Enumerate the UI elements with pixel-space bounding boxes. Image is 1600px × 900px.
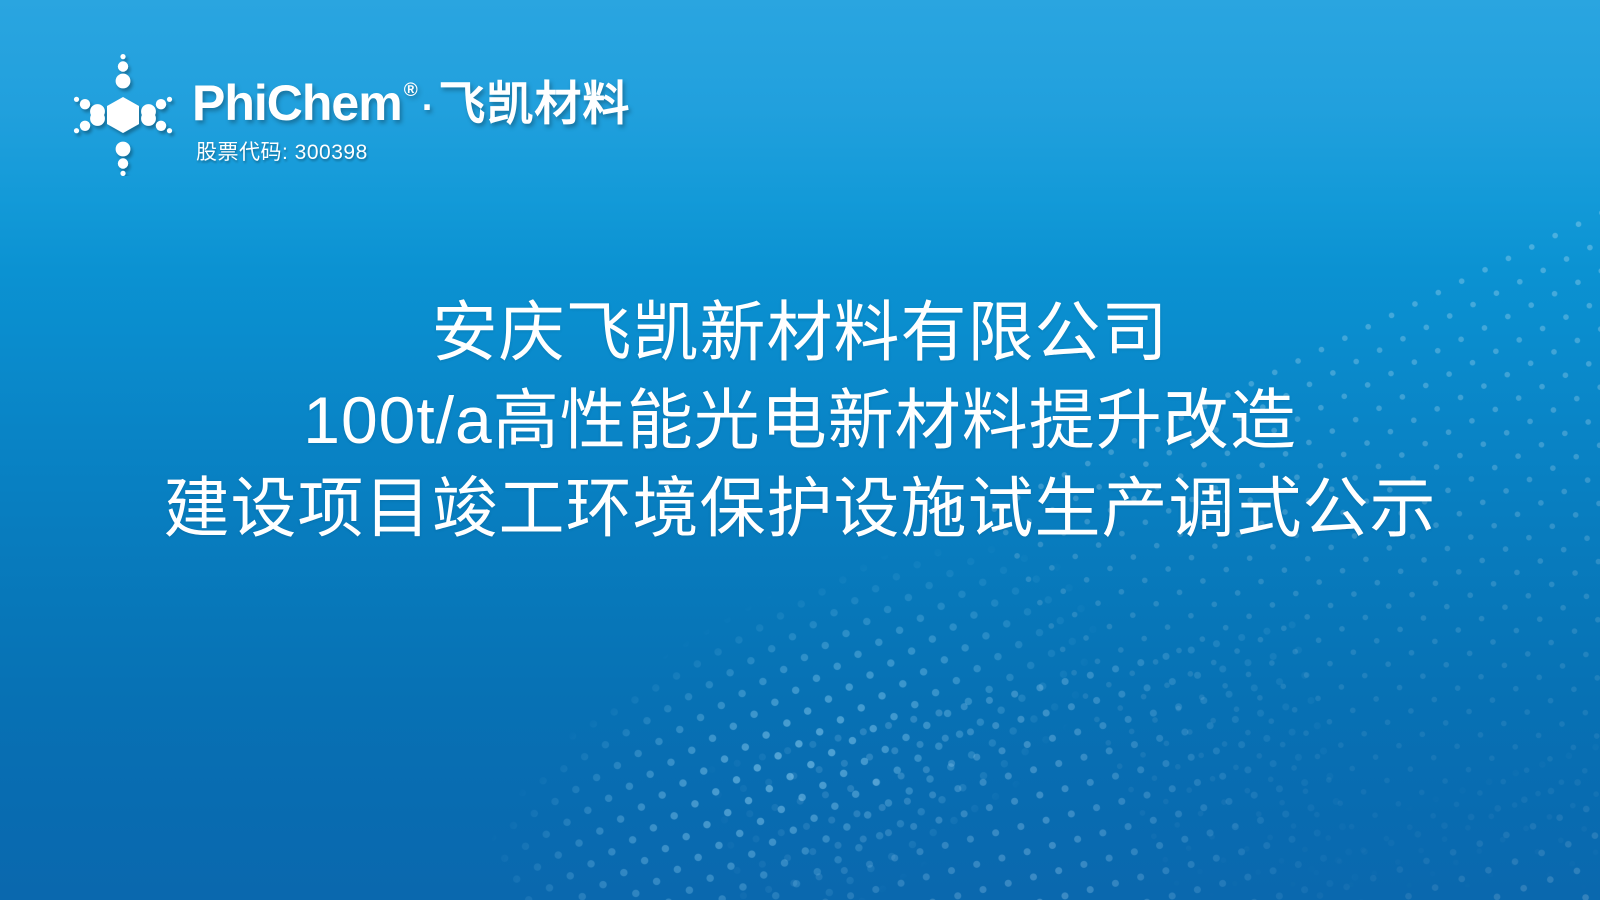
slide-canvas: PhiChem ® · 飞凯材料 股票代码: 300398 安庆飞凯新材料有限公… <box>0 0 1600 900</box>
title-line-3: 建设项目竣工环境保护设施试生产调式公示 <box>0 464 1600 552</box>
wordmark-separator-dot: · <box>422 89 435 127</box>
decorative-dot-arc <box>380 217 1539 900</box>
brand-logo-lockup: PhiChem ® · 飞凯材料 股票代码: 300398 <box>62 52 630 176</box>
decorative-dot-field-lower <box>577 430 1600 900</box>
brand-wordmark: PhiChem ® · 飞凯材料 <box>192 78 630 128</box>
title-line-2: 100t/a高性能光电新材料提升改造 <box>0 376 1600 464</box>
brand-text-block: PhiChem ® · 飞凯材料 股票代码: 300398 <box>192 78 630 166</box>
page-title: 安庆飞凯新材料有限公司 100t/a高性能光电新材料提升改造 建设项目竣工环境保… <box>0 288 1600 552</box>
wordmark-chinese: 飞凯材料 <box>438 80 630 127</box>
stock-code-label: 股票代码: 300398 <box>196 136 630 166</box>
decorative-dot-tail <box>696 610 1380 900</box>
wordmark-english: PhiChem <box>192 78 402 128</box>
decorative-dot-field-upper <box>977 170 1600 900</box>
hexagon-dot-starburst-icon <box>62 54 184 176</box>
title-line-1: 安庆飞凯新材料有限公司 <box>0 288 1600 376</box>
registered-trademark-icon: ® <box>404 80 418 102</box>
